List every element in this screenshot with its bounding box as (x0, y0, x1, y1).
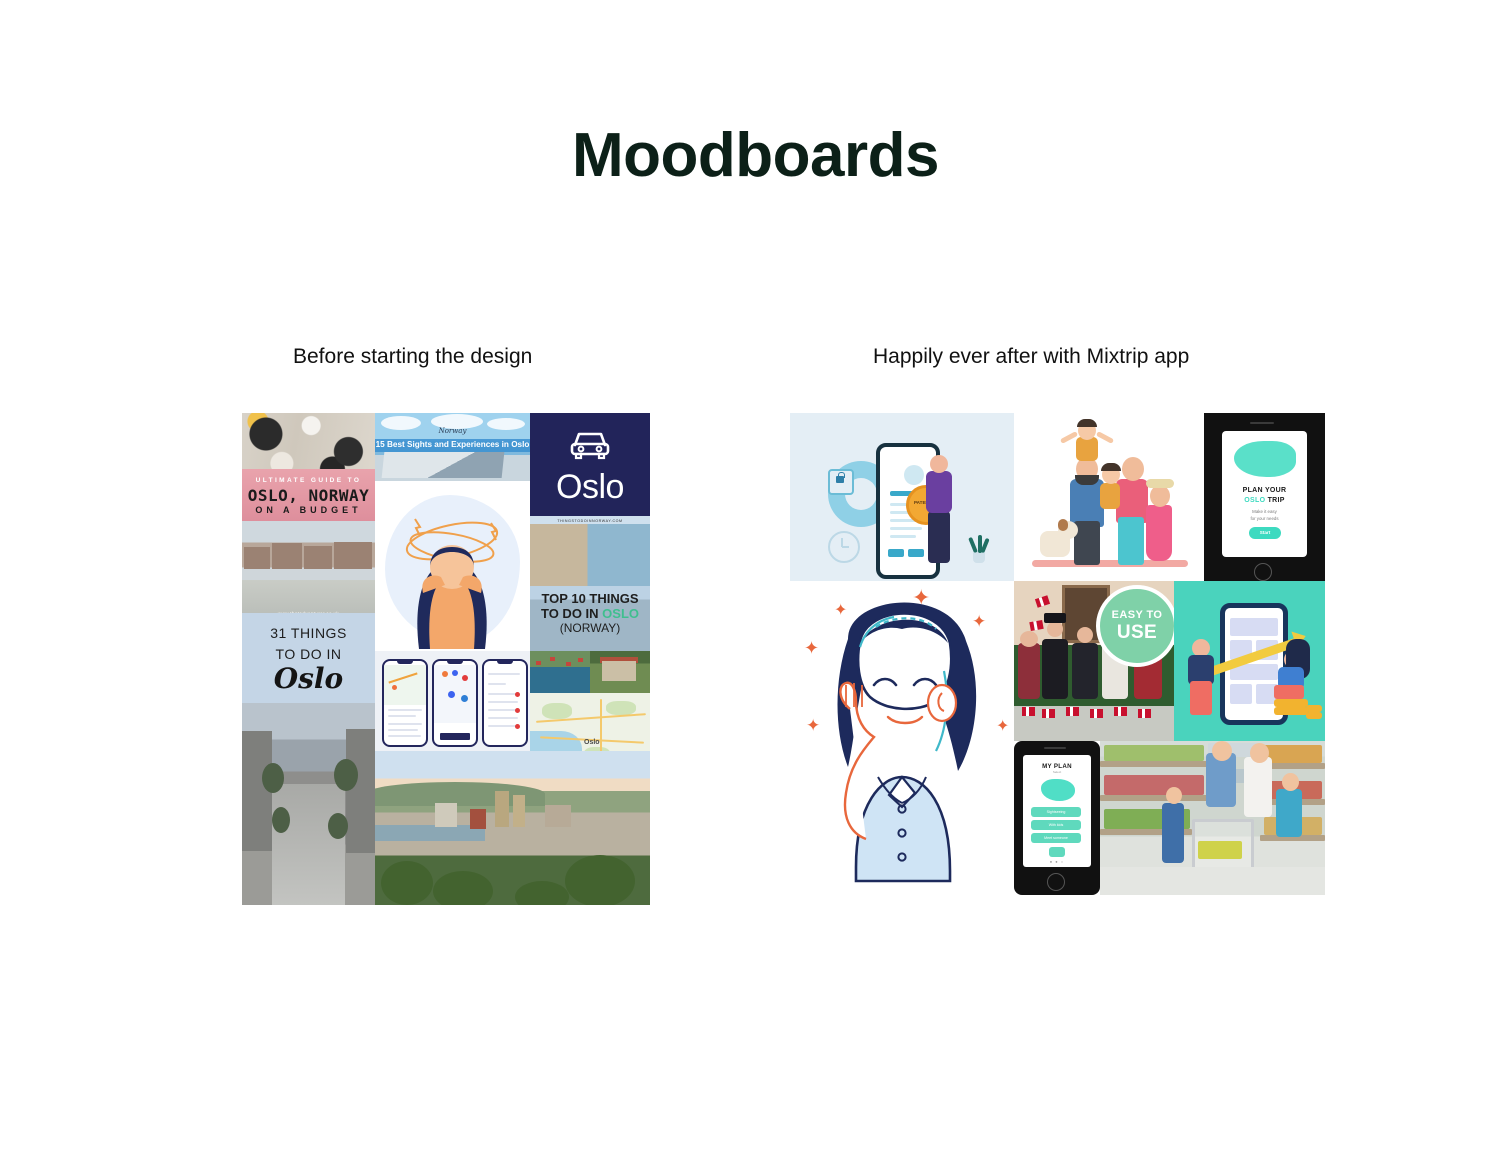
plan-oslo-highlight: OSLO (1244, 497, 1265, 504)
plan-start-label: Start (1249, 530, 1281, 535)
plan-line-1: PLAN YOUR (1222, 487, 1307, 495)
oslo-budget-guide-card: ULTIMATE GUIDE TO OSLO, NORWAY ON A BUDG… (242, 469, 375, 525)
patented-app-illustration: PATENTED (790, 413, 1014, 581)
clock-icon (828, 531, 860, 563)
home-button-icon (1254, 563, 1272, 581)
map-city-label: Oslo (584, 739, 600, 747)
badge-line-1: EASY TO (1100, 609, 1174, 622)
oslo-street-photo (242, 703, 375, 905)
option-label: With kids (1031, 823, 1081, 827)
myplan-go-button[interactable] (1049, 847, 1065, 857)
plan-subtext: Make it easy for your needs (1222, 509, 1307, 522)
myplan-pager: ● ● ○ (1023, 860, 1091, 865)
car-icon (530, 427, 650, 466)
user-avatar-icon (904, 465, 924, 485)
lock-icon (828, 469, 854, 495)
plan-start-button[interactable]: Start (1249, 527, 1281, 539)
moodboard-right-caption: Happily ever after with Mixtrip app (873, 345, 1189, 369)
my-plan-phone: MY PLAN Select Sightseeing With kids Mee… (1014, 741, 1100, 895)
card-line-1: 31 THINGS (242, 625, 375, 641)
oslo-card-label: Oslo (530, 468, 650, 507)
myplan-option-meet-someone[interactable]: Meet someone (1031, 833, 1081, 843)
norway-headline: 15 Best Sights and Experiences in Oslo (375, 440, 530, 449)
myplan-illustration (1041, 779, 1075, 801)
norway-15-best-sights-banner: Norway 15 Best Sights and Experiences in… (375, 413, 530, 481)
top10-line-2: TO DO IN OSLO (530, 607, 650, 622)
moodboard-left: ULTIMATE GUIDE TO OSLO, NORWAY ON A BUDG… (242, 413, 650, 905)
easy-to-use-badge: EASY TO USE (1096, 585, 1174, 667)
oslo-car-card: Oslo (530, 413, 650, 516)
option-label: Meet someone (1031, 836, 1081, 840)
oslo-harbour-photo: www.thatadventurer.co.uk (242, 521, 375, 618)
akershus-fortress-photo (590, 651, 650, 693)
top10-kicker: THINGSTODOINNORWAY.COM (530, 519, 650, 523)
31-things-to-do-card: 31 THINGS TO DO IN Oslo (242, 613, 375, 708)
myplan-option-sightseeing[interactable]: Sightseeing (1031, 807, 1081, 817)
home-button-icon (1047, 873, 1065, 891)
moodboard-right: PATENTED (790, 413, 1325, 895)
guide-subtitle: ON A BUDGET (242, 505, 375, 515)
top10-line-3: (NORWAY) (530, 622, 650, 636)
top10-line-1: TOP 10 THINGS (530, 592, 650, 607)
card-script-oslo: Oslo (242, 663, 375, 695)
phone-mockup-map (382, 659, 428, 747)
badge-line-2: USE (1100, 622, 1174, 644)
opera-house-shape (382, 452, 505, 478)
plan-illustration (1234, 441, 1296, 477)
moodboard-left-caption: Before starting the design (293, 345, 532, 369)
phone-mockup-route (432, 659, 478, 747)
top-10-things-card: THINGSTODOINNORWAY.COM TOP 10 THINGS TO … (530, 516, 650, 651)
family-supermarket-photo (1100, 741, 1325, 895)
fjord-village-photo (530, 651, 590, 693)
norway-script-label: Norway (375, 427, 530, 435)
plant-icon (966, 535, 992, 563)
guide-kicker: ULTIMATE GUIDE TO (242, 477, 375, 484)
travel-app-phone-mockups (375, 651, 530, 751)
guide-title: OSLO, NORWAY (242, 487, 375, 505)
smiling-girl-illustration: ✦ ✦ ✦ ✦ ✦ ✦ (790, 581, 1014, 895)
plan-your-oslo-trip-phone: PLAN YOUR OSLO TRIP Make it easy for you… (1204, 413, 1325, 581)
oslo-skyline-panorama (375, 751, 650, 905)
option-label: Sightseeing (1031, 810, 1081, 814)
phone-mockup-itinerary (482, 659, 528, 747)
top10-oslo-highlight: OSLO (602, 606, 639, 621)
norway-national-day-photo: EASY TO USE (1014, 581, 1174, 741)
happy-family-illustration (1014, 413, 1204, 581)
card-line-2: TO DO IN (242, 646, 375, 662)
myplan-option-with-kids[interactable]: With kids (1031, 820, 1081, 830)
dizzy-woman-illustration (375, 481, 530, 651)
plan-line-2: OSLO TRIP (1222, 497, 1307, 505)
page-title: Moodboards (0, 120, 1511, 191)
app-growth-illustration (1174, 581, 1325, 741)
myplan-subtitle: Select (1023, 771, 1091, 774)
